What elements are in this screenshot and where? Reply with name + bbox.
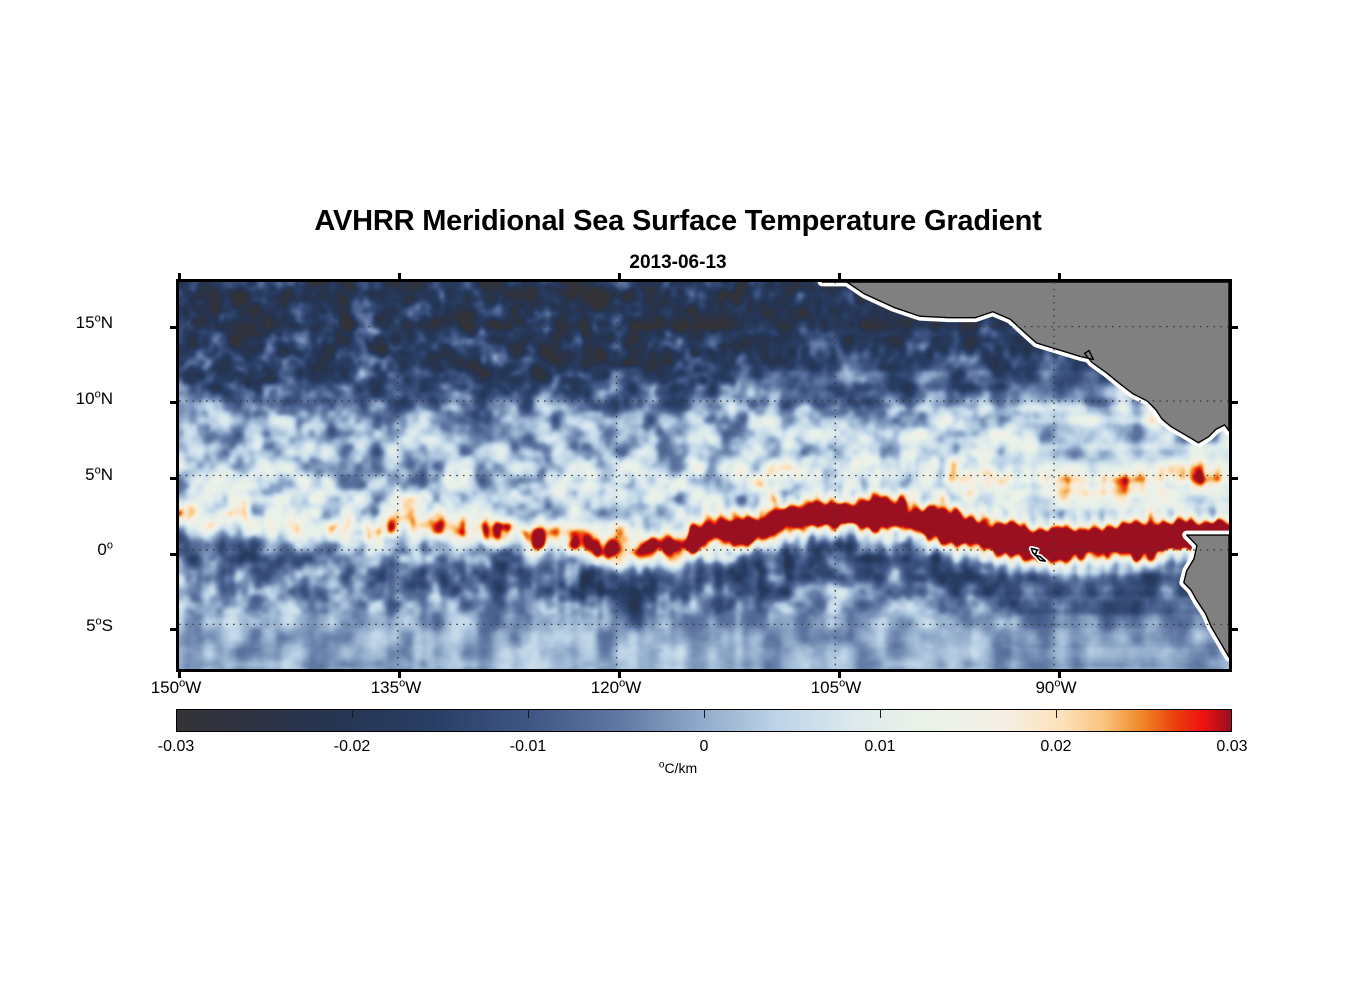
y-axis-label: 10oN [0,389,113,409]
lat-hemisphere: N [101,465,113,484]
colorbar-unit-label: oC/km [0,760,1356,776]
colorbar-tick-label: 0.02 [976,738,1136,756]
lon-value: 105 [811,678,839,697]
figure-title: AVHRR Meridional Sea Surface Temperature… [0,205,1356,238]
figure-canvas: AVHRR Meridional Sea Surface Temperature… [0,0,1356,1000]
colorbar-tick [704,709,705,718]
colorbar-tick [880,709,881,718]
y-axis-tick [1229,477,1238,480]
lat-hemisphere: S [102,616,113,635]
lat-hemisphere: N [101,313,113,332]
x-axis-tick [838,273,841,282]
colorbar-tick-label: -0.03 [96,738,256,756]
y-axis-tick [170,553,179,556]
lon-hemisphere: W [1061,678,1077,697]
x-axis-tick [178,273,181,282]
y-axis-label: 15oN [0,313,113,333]
lat-value: 0 [97,540,106,559]
lat-value: 5 [85,465,94,484]
colorbar-tick-label: -0.02 [272,738,432,756]
x-axis-tick [618,273,621,282]
y-axis-tick [170,326,179,329]
colorbar-tick [352,709,353,718]
colorbar-tick-label: 0.03 [1152,738,1312,756]
colorbar-tick [528,709,529,718]
x-axis-label: 150oW [106,678,246,698]
y-axis-label: 0o [0,540,113,560]
x-axis-tick [1058,273,1061,282]
y-axis-tick [170,477,179,480]
y-axis-tick [170,401,179,404]
colorbar-tick [1056,709,1057,718]
y-axis-tick [1229,326,1238,329]
lon-hemisphere: W [185,678,201,697]
x-axis-label: 105oW [766,678,906,698]
colorbar-tick-label: -0.01 [448,738,608,756]
lat-hemisphere: N [101,389,113,408]
y-axis-tick [170,628,179,631]
y-axis-tick [1229,553,1238,556]
lat-value: 15 [76,313,95,332]
lon-value: 120 [591,678,619,697]
lat-value: 5 [86,616,95,635]
colorbar-tick-label: 0 [624,738,784,756]
x-axis-label: 90oW [986,678,1126,698]
degree-symbol: o [107,539,113,551]
y-axis-tick [1229,401,1238,404]
lon-value: 90 [1035,678,1054,697]
lat-value: 10 [76,389,95,408]
y-axis-label: 5oN [0,465,113,485]
x-axis-label: 135oW [326,678,466,698]
lon-hemisphere: W [405,678,421,697]
lon-hemisphere: W [625,678,641,697]
colorbar-tick-label: 0.01 [800,738,960,756]
x-axis-label: 120oW [546,678,686,698]
land-mask [179,282,1229,669]
map-axes [176,279,1232,672]
lon-value: 135 [371,678,399,697]
colorbar-unit-text: C/km [664,760,697,776]
lon-hemisphere: W [845,678,861,697]
figure-subtitle: 2013-06-13 [0,252,1356,274]
x-axis-tick [398,273,401,282]
lon-value: 150 [151,678,179,697]
y-axis-tick [1229,628,1238,631]
y-axis-label: 5oS [0,616,113,636]
